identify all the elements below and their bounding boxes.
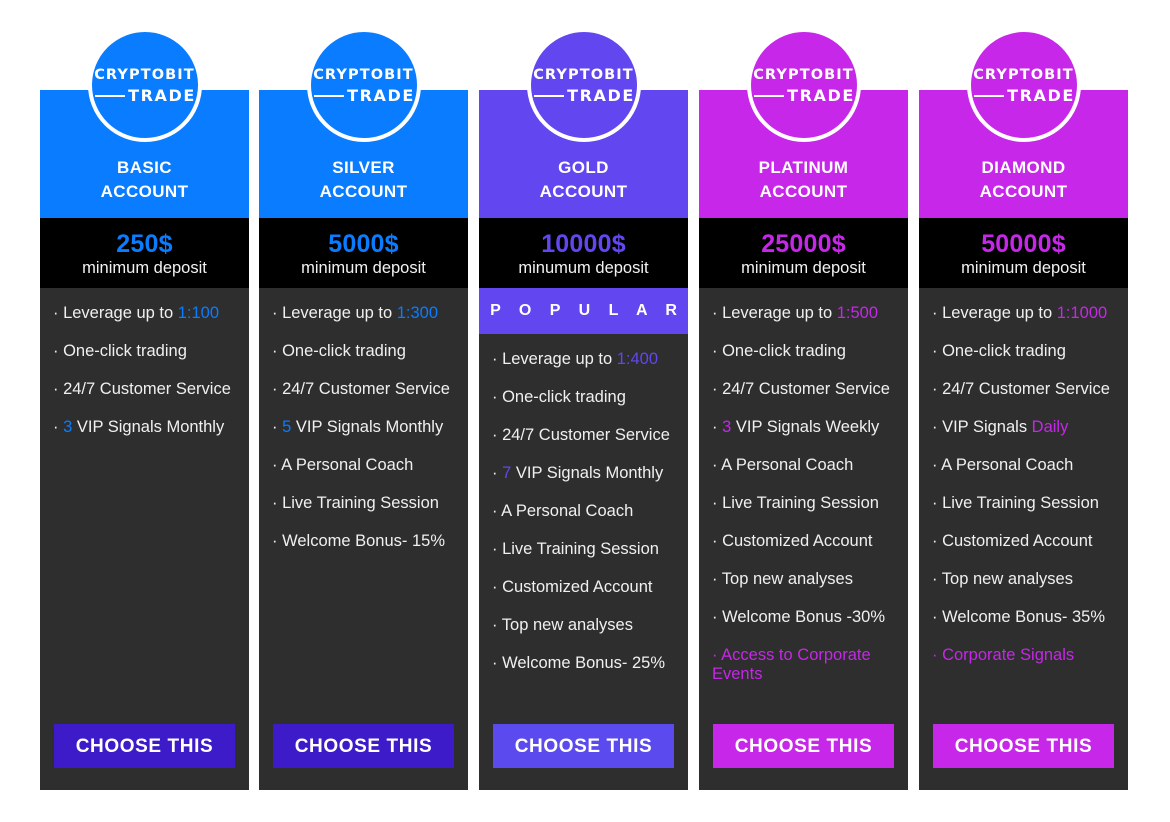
price-band-platinum: 25000$minimum deposit	[699, 218, 908, 288]
feature-item: · 24/7 Customer Service	[53, 380, 235, 399]
logo-rule-icon	[314, 95, 344, 97]
cryptobit-trade-logo: CRYPTOBITTRADE	[527, 28, 641, 142]
price-amount: 25000$	[761, 231, 846, 257]
plan-header-silver: CRYPTOBITTRADESILVERACCOUNT	[259, 90, 468, 218]
plan-name-diamond: DIAMONDACCOUNT	[980, 156, 1068, 204]
feature-text-segment: · 24/7 Customer Service	[492, 426, 670, 444]
feature-text-segment: · Customized Account	[932, 532, 1093, 550]
plan-name-line1: DIAMOND	[980, 156, 1068, 180]
plan-name-line1: BASIC	[101, 156, 189, 180]
feature-text-segment: 1:100	[178, 304, 219, 322]
price-caption: minimum deposit	[741, 258, 866, 278]
feature-list-platinum: · Leverage up to 1:500· One-click tradin…	[699, 288, 908, 724]
cryptobit-trade-logo: CRYPTOBITTRADE	[747, 28, 861, 142]
price-caption: minimum deposit	[82, 258, 207, 278]
feature-text-segment: · Welcome Bonus- 15%	[272, 532, 445, 550]
price-amount: 10000$	[541, 231, 626, 257]
plan-name-line2: ACCOUNT	[320, 180, 408, 204]
feature-item: · One-click trading	[53, 342, 235, 361]
feature-item: · 24/7 Customer Service	[272, 380, 454, 399]
feature-list-basic: · Leverage up to 1:100· One-click tradin…	[40, 288, 249, 724]
plan-card-diamond: CRYPTOBITTRADEDIAMONDACCOUNT50000$minimu…	[919, 90, 1128, 790]
plan-card-platinum: CRYPTOBITTRADEPLATINUMACCOUNT25000$minim…	[699, 90, 908, 790]
feature-item: · A Personal Coach	[932, 456, 1114, 475]
feature-text-segment: VIP Signals Weekly	[731, 418, 879, 436]
feature-text-segment: VIP Signals Monthly	[511, 464, 663, 482]
feature-text-segment: · Access to Corporate Events	[712, 646, 875, 683]
plan-card-silver: CRYPTOBITTRADESILVERACCOUNT5000$minimum …	[259, 90, 468, 790]
feature-text-segment: · Customized Account	[492, 578, 653, 596]
logo-rule-icon	[95, 95, 125, 97]
cta-wrapper: CHOOSE THIS	[40, 724, 249, 790]
plan-header-platinum: CRYPTOBITTRADEPLATINUMACCOUNT	[699, 90, 908, 218]
feature-item: · A Personal Coach	[712, 456, 894, 475]
feature-item: · One-click trading	[272, 342, 454, 361]
feature-item: · 24/7 Customer Service	[712, 380, 894, 399]
plan-header-basic: CRYPTOBITTRADEBASICACCOUNT	[40, 90, 249, 218]
feature-item: · Live Training Session	[272, 494, 454, 513]
feature-text-segment: 3	[722, 418, 731, 436]
plan-name-line2: ACCOUNT	[101, 180, 189, 204]
price-amount: 5000$	[328, 231, 399, 257]
pricing-table: CRYPTOBITTRADEBASICACCOUNT250$minimum de…	[0, 0, 1170, 822]
logo-rule-icon	[534, 95, 564, 97]
feature-item: · Welcome Bonus- 15%	[272, 532, 454, 551]
cryptobit-trade-logo: CRYPTOBITTRADE	[88, 28, 202, 142]
feature-text-segment: · Top new analyses	[932, 570, 1073, 588]
logo-wordmark-top: CRYPTOBIT	[92, 68, 198, 83]
feature-item: · Access to Corporate Events	[712, 646, 894, 684]
feature-text-segment: · 24/7 Customer Service	[712, 380, 890, 398]
plan-name-platinum: PLATINUMACCOUNT	[759, 156, 849, 204]
logo-wordmark-top: CRYPTOBIT	[751, 68, 857, 83]
plan-name-line1: PLATINUM	[759, 156, 849, 180]
price-amount: 250$	[116, 231, 172, 257]
feature-text-segment: · Live Training Session	[492, 540, 659, 558]
feature-item: · Customized Account	[712, 532, 894, 551]
feature-text-segment: · Top new analyses	[492, 616, 633, 634]
feature-text-segment: 1:500	[837, 304, 878, 322]
feature-text-segment: · A Personal Coach	[492, 502, 633, 520]
choose-this-button-silver[interactable]: CHOOSE THIS	[273, 724, 454, 768]
cryptobit-trade-logo: CRYPTOBITTRADE	[967, 28, 1081, 142]
plan-name-gold: GOLDACCOUNT	[540, 156, 628, 204]
feature-item: · Welcome Bonus- 25%	[492, 654, 674, 673]
feature-item: · Customized Account	[492, 578, 674, 597]
plan-card-gold: CRYPTOBITTRADEGOLDACCOUNT10000$minumum d…	[479, 90, 688, 790]
price-caption: minimum deposit	[301, 258, 426, 278]
price-band-diamond: 50000$minimum deposit	[919, 218, 1128, 288]
feature-list-gold: · Leverage up to 1:400· One-click tradin…	[479, 334, 688, 724]
logo-wordmark-bottom: TRADE	[128, 88, 196, 104]
feature-text-segment: 1:300	[397, 304, 438, 322]
feature-text-segment: · Welcome Bonus- 25%	[492, 654, 665, 672]
feature-text-segment: ·	[53, 418, 63, 436]
plan-name-line2: ACCOUNT	[759, 180, 849, 204]
price-band-gold: 10000$minumum deposit	[479, 218, 688, 288]
feature-text-segment: 1:400	[617, 350, 658, 368]
cta-wrapper: CHOOSE THIS	[259, 724, 468, 790]
feature-item: · One-click trading	[712, 342, 894, 361]
plan-name-basic: BASICACCOUNT	[101, 156, 189, 204]
feature-item: · 24/7 Customer Service	[932, 380, 1114, 399]
feature-text-segment: · Leverage up to	[932, 304, 1057, 322]
feature-item: · Top new analyses	[932, 570, 1114, 589]
cta-wrapper: CHOOSE THIS	[479, 724, 688, 790]
logo-wordmark-bottom: TRADE	[567, 88, 635, 104]
cta-wrapper: CHOOSE THIS	[919, 724, 1128, 790]
feature-item: · Top new analyses	[712, 570, 894, 589]
feature-text-segment: · Customized Account	[712, 532, 873, 550]
feature-text-segment: · Live Training Session	[272, 494, 439, 512]
feature-text-segment: · Leverage up to	[53, 304, 178, 322]
feature-item: · Live Training Session	[712, 494, 894, 513]
cta-wrapper: CHOOSE THIS	[699, 724, 908, 790]
choose-this-button-platinum[interactable]: CHOOSE THIS	[713, 724, 894, 768]
price-caption: minumum deposit	[518, 258, 648, 278]
feature-item: · A Personal Coach	[272, 456, 454, 475]
feature-item: · One-click trading	[492, 388, 674, 407]
feature-text-segment: Daily	[1032, 418, 1069, 436]
feature-text-segment: 7	[502, 464, 511, 482]
choose-this-button-basic[interactable]: CHOOSE THIS	[54, 724, 235, 768]
feature-text-segment: · Welcome Bonus- 35%	[932, 608, 1105, 626]
feature-item: · Leverage up to 1:300	[272, 304, 454, 323]
feature-text-segment: 5	[282, 418, 291, 436]
feature-item: · Leverage up to 1:500	[712, 304, 894, 323]
feature-item: · Top new analyses	[492, 616, 674, 635]
feature-text-segment: · Leverage up to	[492, 350, 617, 368]
plan-card-basic: CRYPTOBITTRADEBASICACCOUNT250$minimum de…	[40, 90, 249, 790]
feature-text-segment: · Top new analyses	[712, 570, 853, 588]
feature-item: · Welcome Bonus -30%	[712, 608, 894, 627]
feature-text-segment: VIP Signals Monthly	[291, 418, 443, 436]
feature-text-segment: · A Personal Coach	[272, 456, 413, 474]
feature-item: · 5 VIP Signals Monthly	[272, 418, 454, 437]
feature-item: · VIP Signals Daily	[932, 418, 1114, 437]
logo-wordmark-bottom: TRADE	[787, 88, 855, 104]
feature-text-segment: VIP Signals Monthly	[72, 418, 224, 436]
feature-item: · A Personal Coach	[492, 502, 674, 521]
cryptobit-trade-logo: CRYPTOBITTRADE	[307, 28, 421, 142]
feature-text-segment: · One-click trading	[53, 342, 187, 360]
feature-list-diamond: · Leverage up to 1:1000· One-click tradi…	[919, 288, 1128, 724]
plan-header-gold: CRYPTOBITTRADEGOLDACCOUNT	[479, 90, 688, 218]
feature-text-segment: ·	[492, 464, 502, 482]
feature-item: · 3 VIP Signals Monthly	[53, 418, 235, 437]
feature-item: · Live Training Session	[932, 494, 1114, 513]
feature-text-segment: · A Personal Coach	[932, 456, 1073, 474]
feature-item: · Leverage up to 1:100	[53, 304, 235, 323]
feature-text-segment: · Leverage up to	[712, 304, 837, 322]
feature-text-segment: · A Personal Coach	[712, 456, 853, 474]
plan-name-silver: SILVERACCOUNT	[320, 156, 408, 204]
logo-rule-icon	[974, 95, 1004, 97]
feature-item: · Live Training Session	[492, 540, 674, 559]
logo-wordmark-bottom: TRADE	[1007, 88, 1075, 104]
feature-text-segment: · Corporate Signals	[932, 646, 1074, 664]
feature-text-segment: · One-click trading	[932, 342, 1066, 360]
plan-name-line1: SILVER	[320, 156, 408, 180]
feature-item: · Welcome Bonus- 35%	[932, 608, 1114, 627]
feature-text-segment: · Live Training Session	[712, 494, 879, 512]
feature-item: · 24/7 Customer Service	[492, 426, 674, 445]
feature-item: · Leverage up to 1:400	[492, 350, 674, 369]
price-band-silver: 5000$minimum deposit	[259, 218, 468, 288]
feature-item: · Leverage up to 1:1000	[932, 304, 1114, 323]
feature-text-segment: · 24/7 Customer Service	[53, 380, 231, 398]
logo-rule-icon	[754, 95, 784, 97]
plan-name-line2: ACCOUNT	[540, 180, 628, 204]
feature-item: · Corporate Signals	[932, 646, 1114, 665]
feature-item: · Customized Account	[932, 532, 1114, 551]
feature-text-segment: · Welcome Bonus -30%	[712, 608, 885, 626]
feature-text-segment: ·	[712, 418, 722, 436]
feature-item: · One-click trading	[932, 342, 1114, 361]
feature-item: · 3 VIP Signals Weekly	[712, 418, 894, 437]
feature-text-segment: · VIP Signals	[932, 418, 1032, 436]
feature-text-segment: 1:1000	[1057, 304, 1107, 322]
price-band-basic: 250$minimum deposit	[40, 218, 249, 288]
logo-wordmark-top: CRYPTOBIT	[971, 68, 1077, 83]
choose-this-button-gold[interactable]: CHOOSE THIS	[493, 724, 674, 768]
feature-text-segment: · 24/7 Customer Service	[932, 380, 1110, 398]
choose-this-button-diamond[interactable]: CHOOSE THIS	[933, 724, 1114, 768]
feature-text-segment: ·	[272, 418, 282, 436]
feature-text-segment: · One-click trading	[272, 342, 406, 360]
feature-text-segment: 3	[63, 418, 72, 436]
logo-wordmark-top: CRYPTOBIT	[311, 68, 417, 83]
feature-text-segment: · One-click trading	[712, 342, 846, 360]
plan-name-line2: ACCOUNT	[980, 180, 1068, 204]
logo-wordmark-bottom: TRADE	[347, 88, 415, 104]
plan-name-line1: GOLD	[540, 156, 628, 180]
feature-list-silver: · Leverage up to 1:300· One-click tradin…	[259, 288, 468, 724]
feature-item: · 7 VIP Signals Monthly	[492, 464, 674, 483]
price-amount: 50000$	[981, 231, 1066, 257]
feature-text-segment: · One-click trading	[492, 388, 626, 406]
popular-badge: P O P U L A R	[479, 288, 688, 334]
feature-text-segment: · Live Training Session	[932, 494, 1099, 512]
feature-text-segment: · Leverage up to	[272, 304, 397, 322]
price-caption: minimum deposit	[961, 258, 1086, 278]
plan-header-diamond: CRYPTOBITTRADEDIAMONDACCOUNT	[919, 90, 1128, 218]
feature-text-segment: · 24/7 Customer Service	[272, 380, 450, 398]
logo-wordmark-top: CRYPTOBIT	[531, 68, 637, 83]
